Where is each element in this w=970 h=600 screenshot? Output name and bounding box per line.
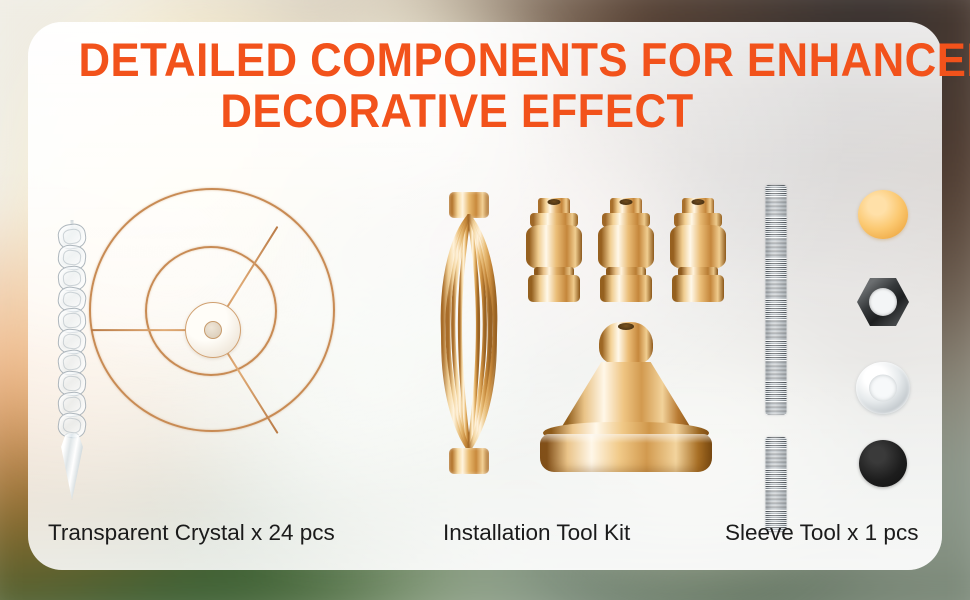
- hex-nut: [857, 278, 909, 326]
- finial-cap: [526, 198, 582, 302]
- product-finial-caps: [526, 198, 726, 308]
- crystal-teardrop-pendant: [59, 432, 85, 500]
- caption-sleeve-tool: Sleeve Tool x 1 pcs: [725, 520, 918, 546]
- finial-twisted-cage: [426, 214, 512, 452]
- product-hardware-parts: [828, 190, 938, 470]
- headline-line-1: DETAILED COMPONENTS FOR ENHANCED: [78, 38, 835, 83]
- caption-row: Transparent Crystal x 24 pcs Installatio…: [28, 520, 942, 566]
- finial-cap: [598, 198, 654, 302]
- threaded-rod-short: [766, 437, 787, 532]
- shade-center-hub: [185, 302, 241, 358]
- lamp-base-cone: [561, 362, 691, 428]
- product-feature-image: DETAILED COMPONENTS FOR ENHANCED DECORAT…: [0, 0, 970, 600]
- finial-cap: [670, 198, 726, 302]
- product-wire-lampshade-ring: [83, 180, 343, 480]
- finial-bottom-collar: [449, 448, 489, 474]
- product-spiral-cage-finial: [426, 192, 512, 474]
- product-threaded-rods: [748, 185, 804, 485]
- product-lamp-base: [518, 322, 734, 472]
- rubber-disc: [859, 440, 907, 487]
- threaded-rod-long: [766, 185, 787, 415]
- lamp-base-knob: [599, 322, 653, 364]
- product-showcase: [28, 170, 942, 510]
- caption-transparent-crystal: Transparent Crystal x 24 pcs: [48, 520, 335, 546]
- page-title: DETAILED COMPONENTS FOR ENHANCED DECORAT…: [50, 38, 864, 133]
- lamp-base-plinth: [540, 434, 712, 472]
- steel-washer: [856, 362, 910, 414]
- caption-installation-tool-kit: Installation Tool Kit: [443, 520, 630, 546]
- brass-washer: [858, 190, 908, 239]
- headline-line-2: DECORATIVE EFFECT: [78, 89, 835, 134]
